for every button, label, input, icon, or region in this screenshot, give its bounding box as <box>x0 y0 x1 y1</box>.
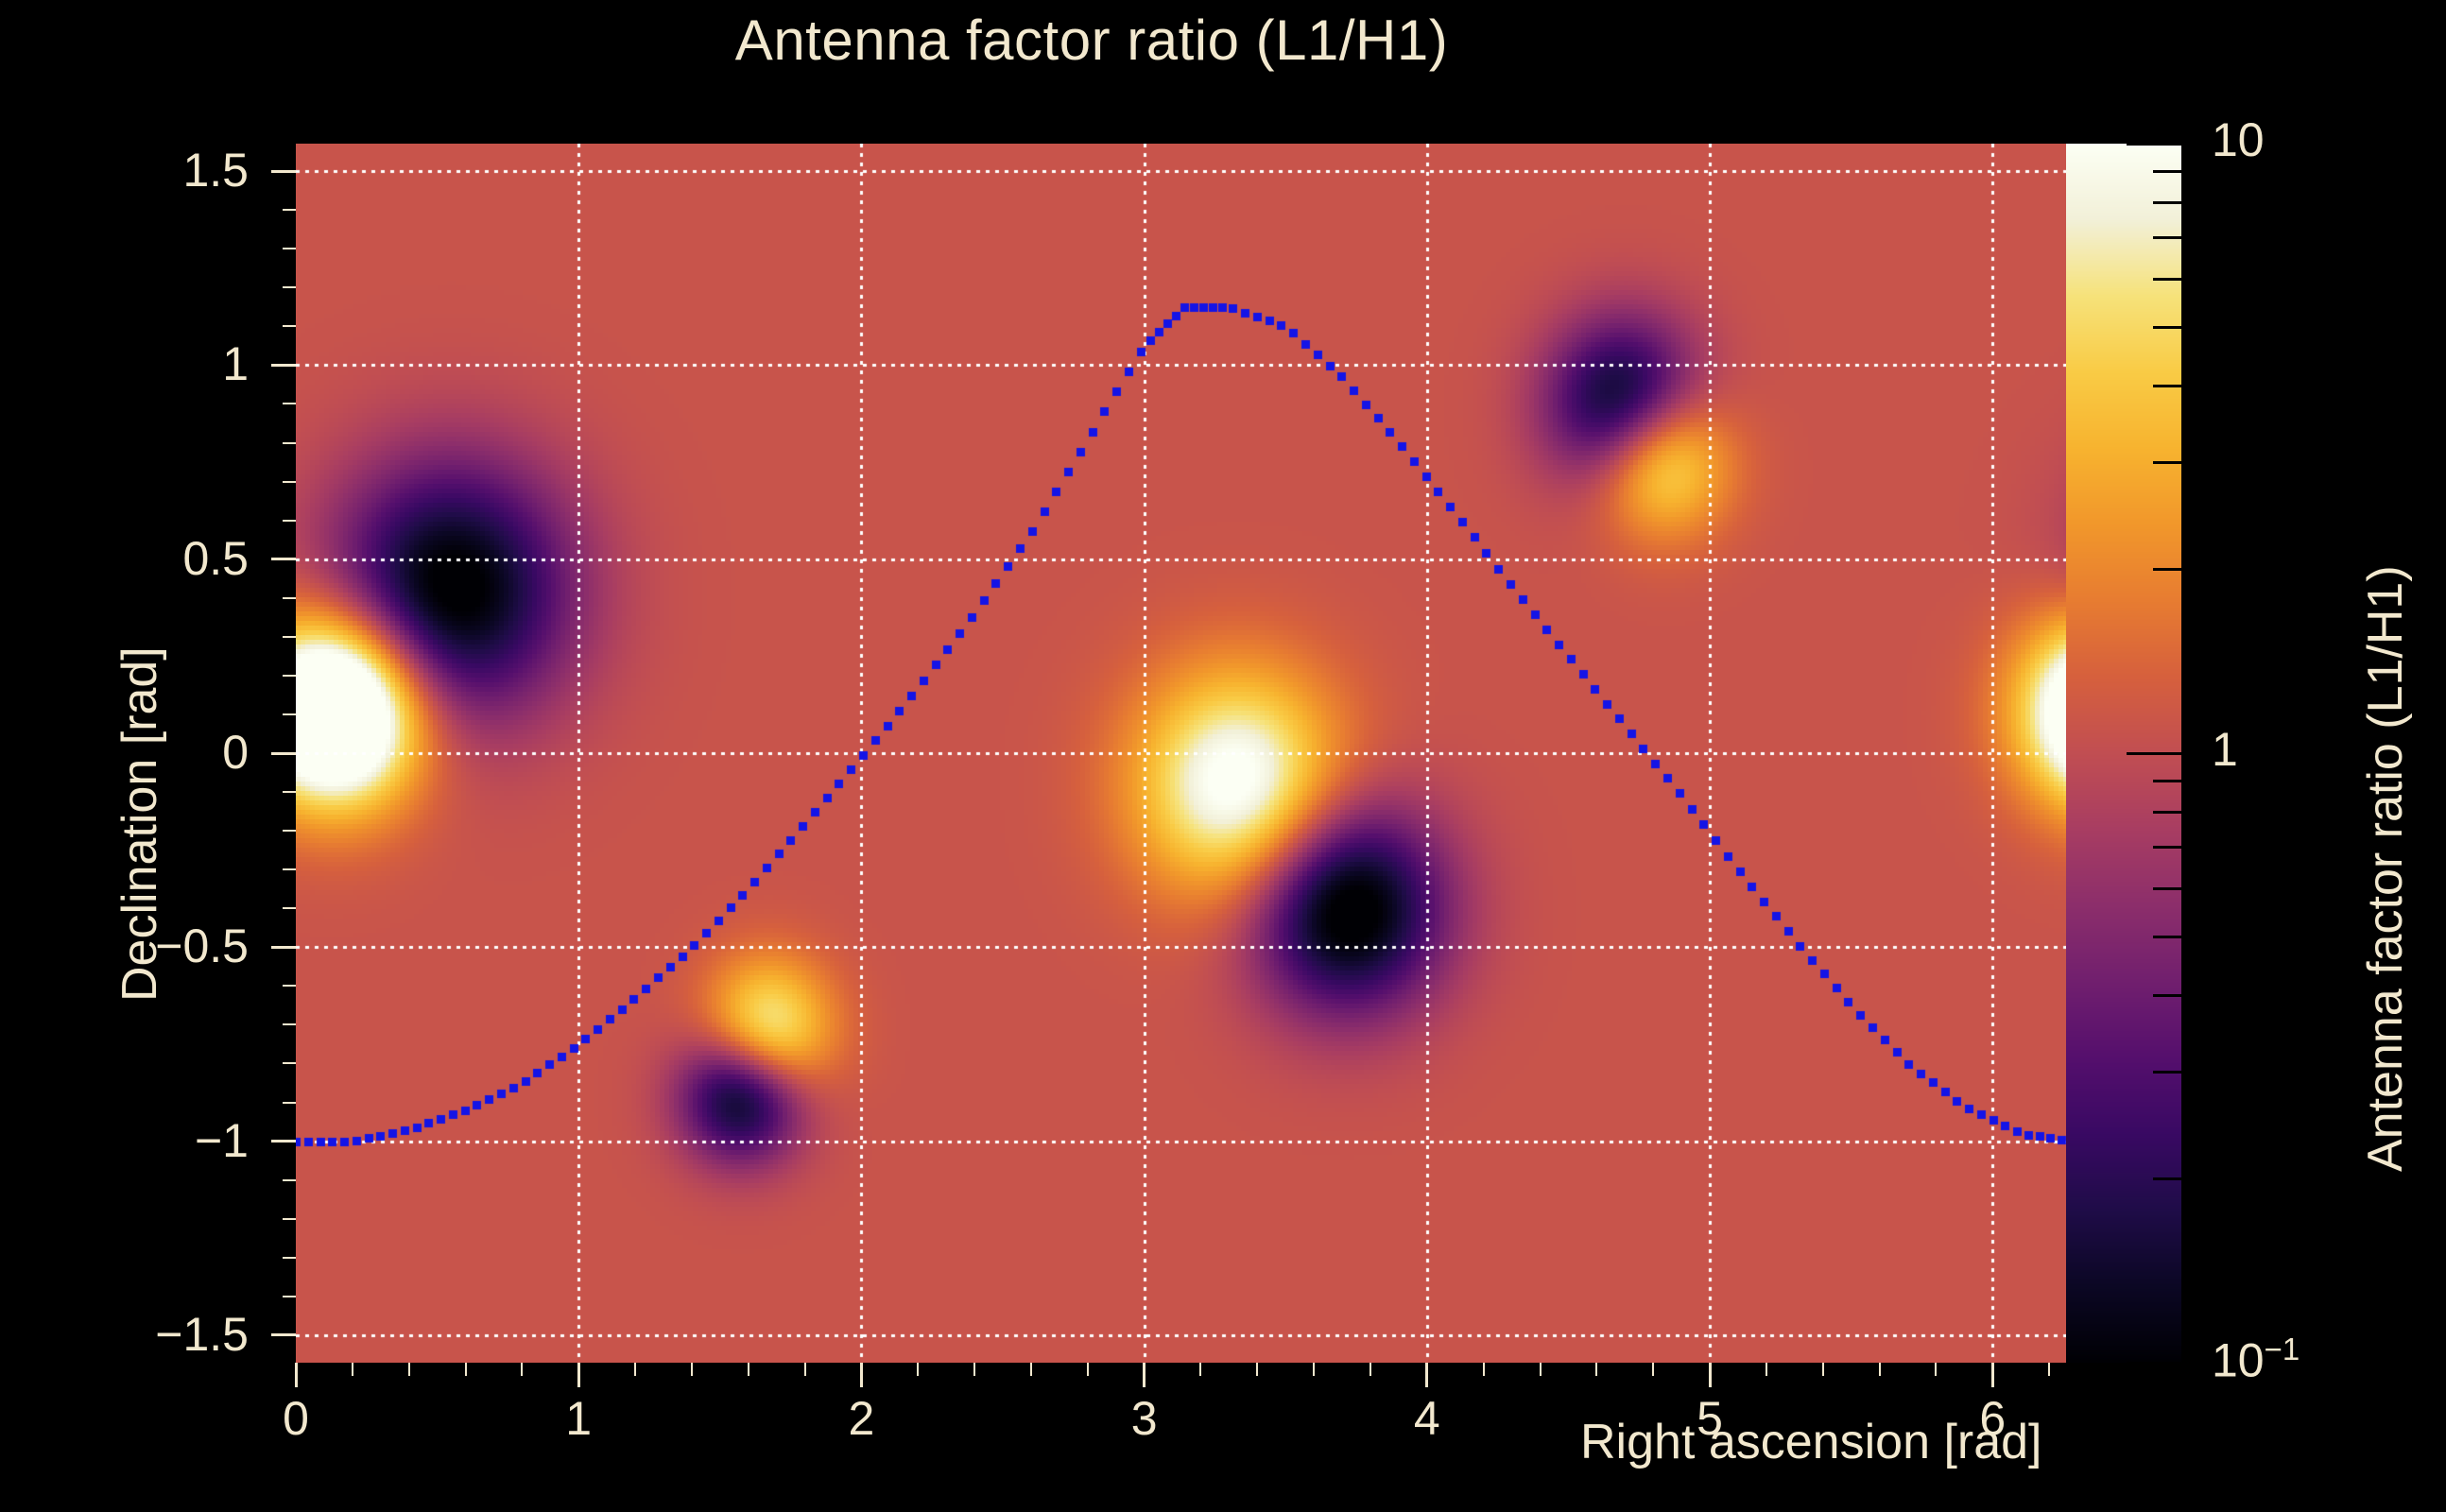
x-tick-minor <box>804 1363 806 1376</box>
x-tick-label: 4 <box>1370 1391 1484 1446</box>
y-tick-minor <box>283 403 296 404</box>
x-tick-minor <box>2048 1363 2050 1376</box>
x-tick-minor <box>1483 1363 1485 1376</box>
x-tick-major <box>1709 1363 1712 1387</box>
x-tick-minor <box>1087 1363 1089 1376</box>
colorbar-tick-major <box>2127 143 2181 146</box>
x-axis-title: Right ascension [rad] <box>1580 1414 2042 1470</box>
x-tick-minor <box>408 1363 410 1376</box>
x-tick-minor <box>1256 1363 1258 1376</box>
y-tick-minor <box>283 442 296 444</box>
y-tick-minor <box>283 1179 296 1181</box>
y-tick-minor <box>283 481 296 483</box>
colorbar-tick-minor <box>2153 887 2181 890</box>
y-tick-minor <box>283 907 296 909</box>
y-tick-minor <box>283 520 296 522</box>
y-tick-label: 1 <box>135 336 249 391</box>
y-tick-minor <box>283 286 296 288</box>
y-tick-major <box>271 1140 296 1143</box>
x-tick-minor <box>917 1363 919 1376</box>
colorbar-tick-minor <box>2153 326 2181 329</box>
heatmap-plot-area <box>296 144 2073 1363</box>
colorbar-tick-minor <box>2153 278 2181 281</box>
colorbar-tick-minor <box>2153 936 2181 938</box>
y-axis-title: Declination [rad] <box>112 646 168 1002</box>
x-tick-major <box>1143 1363 1145 1387</box>
x-tick-minor <box>1313 1363 1315 1376</box>
x-tick-minor <box>465 1363 467 1376</box>
x-tick-minor <box>973 1363 975 1376</box>
y-tick-minor <box>283 1062 296 1064</box>
y-tick-minor <box>283 1257 296 1259</box>
y-tick-minor <box>283 325 296 327</box>
y-tick-label: −1.5 <box>135 1307 249 1362</box>
colorbar-tick-minor <box>2153 236 2181 239</box>
colorbar-tick-minor <box>2153 811 2181 814</box>
x-tick-minor <box>521 1363 523 1376</box>
colorbar-label-mantissa: 10 <box>2212 1334 2265 1387</box>
y-tick-minor <box>283 248 296 249</box>
x-tick-minor <box>352 1363 353 1376</box>
x-tick-major <box>860 1363 863 1387</box>
y-tick-minor <box>283 868 296 870</box>
colorbar-tick-minor <box>2153 461 2181 464</box>
y-tick-major <box>271 558 296 560</box>
x-tick-minor <box>1595 1363 1597 1376</box>
y-tick-major <box>271 1333 296 1336</box>
grid-and-curve-overlay <box>296 144 2073 1363</box>
colorbar-tick-label: 10 <box>2212 112 2265 167</box>
y-tick-label: 0.5 <box>135 531 249 586</box>
plot-root: Antenna factor ratio (L1/H1) 1.510.50−0.… <box>0 0 2446 1512</box>
colorbar-tick-minor <box>2153 780 2181 782</box>
colorbar-tick-major <box>2127 1362 2181 1365</box>
x-tick-major <box>1991 1363 1994 1387</box>
x-tick-major <box>295 1363 298 1387</box>
colorbar-title: Antenna factor ratio (L1/H1) <box>2357 565 2414 1172</box>
colorbar-tick-minor <box>2153 846 2181 849</box>
page-title: Antenna factor ratio (L1/H1) <box>0 8 2183 73</box>
colorbar-tick-minor <box>2153 201 2181 204</box>
y-tick-minor <box>283 209 296 211</box>
x-tick-minor <box>1540 1363 1542 1376</box>
x-tick-major <box>1425 1363 1428 1387</box>
colorbar-tick-label: 1 <box>2212 722 2238 777</box>
colorbar-tick-minor <box>2153 994 2181 997</box>
colorbar-tick-minor <box>2153 1071 2181 1074</box>
x-tick-minor <box>1369 1363 1371 1376</box>
y-tick-minor <box>283 985 296 987</box>
x-tick-label: 1 <box>522 1391 635 1446</box>
y-tick-minor <box>283 675 296 677</box>
colorbar-tick-label: 10−1 <box>2212 1332 2300 1388</box>
x-tick-label: 3 <box>1088 1391 1201 1446</box>
y-tick-label: −1 <box>135 1113 249 1168</box>
colorbar-label-exponent: −1 <box>2265 1332 2300 1366</box>
x-tick-minor <box>1822 1363 1824 1376</box>
y-tick-minor <box>283 597 296 599</box>
y-tick-major <box>271 364 296 367</box>
y-tick-minor <box>283 1023 296 1025</box>
y-tick-minor <box>283 791 296 793</box>
colorbar-tick-minor <box>2153 170 2181 173</box>
x-tick-minor <box>1199 1363 1201 1376</box>
colorbar-tick-minor <box>2153 568 2181 571</box>
y-tick-major <box>271 170 296 173</box>
x-tick-minor <box>1879 1363 1881 1376</box>
y-tick-minor <box>283 1218 296 1220</box>
y-tick-minor <box>283 636 296 638</box>
x-tick-minor <box>1030 1363 1032 1376</box>
y-tick-label: 1.5 <box>135 143 249 198</box>
x-tick-minor <box>1652 1363 1654 1376</box>
y-tick-minor <box>283 1102 296 1104</box>
x-tick-minor <box>691 1363 693 1376</box>
x-tick-minor <box>634 1363 636 1376</box>
colorbar-tick-minor <box>2153 385 2181 387</box>
colorbar-tick-major <box>2127 752 2181 755</box>
x-tick-minor <box>748 1363 749 1376</box>
x-tick-label: 2 <box>804 1391 918 1446</box>
x-tick-label: 0 <box>239 1391 353 1446</box>
y-tick-minor <box>283 1296 296 1297</box>
colorbar-tick-minor <box>2153 1177 2181 1180</box>
y-tick-minor <box>283 713 296 715</box>
x-tick-minor <box>1766 1363 1767 1376</box>
y-tick-minor <box>283 830 296 832</box>
x-tick-minor <box>1935 1363 1937 1376</box>
y-tick-major <box>271 946 296 949</box>
y-tick-major <box>271 752 296 755</box>
x-tick-major <box>577 1363 580 1387</box>
